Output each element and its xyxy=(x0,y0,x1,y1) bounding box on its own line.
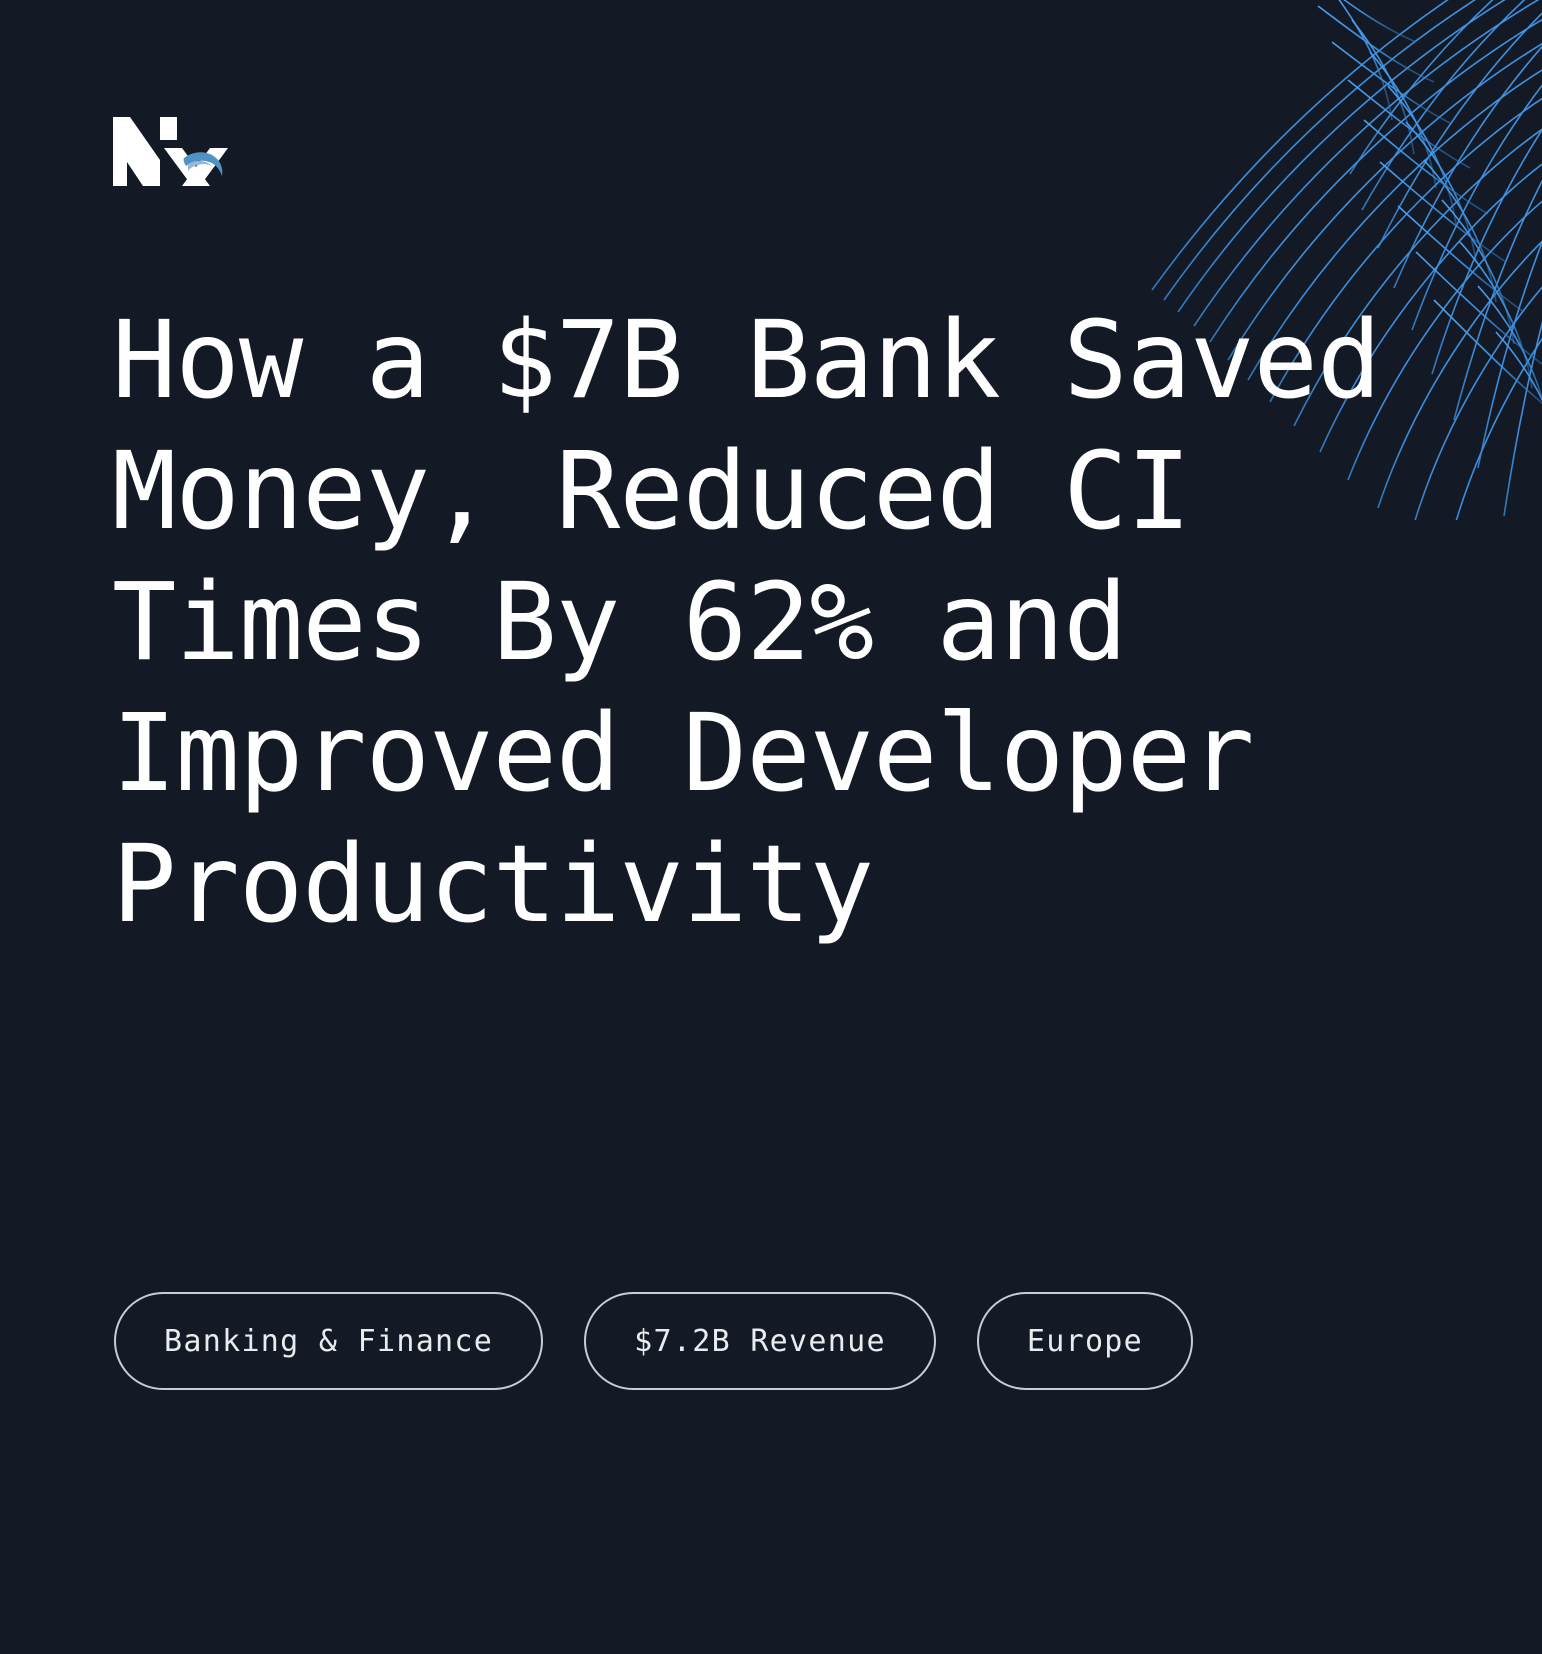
meta-pill-row: Banking & Finance $7.2B Revenue Europe xyxy=(114,1292,1193,1390)
case-study-hero-card: How a $7B Bank Saved Money, Reduced CI T… xyxy=(0,0,1542,1654)
page-title: How a $7B Bank Saved Money, Reduced CI T… xyxy=(112,296,1432,951)
pill-industry[interactable]: Banking & Finance xyxy=(114,1292,543,1390)
nx-logo[interactable] xyxy=(110,114,228,188)
pill-region[interactable]: Europe xyxy=(977,1292,1193,1390)
pill-revenue[interactable]: $7.2B Revenue xyxy=(584,1292,936,1390)
